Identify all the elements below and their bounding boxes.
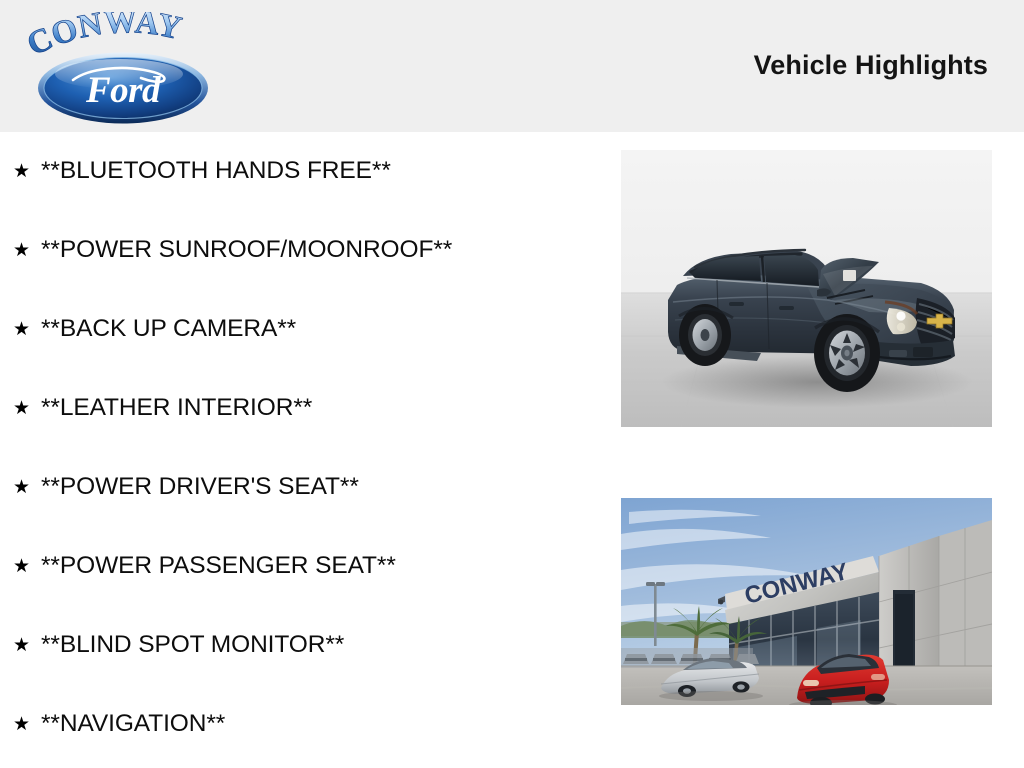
vehicle-photo[interactable] bbox=[621, 150, 992, 427]
list-item: ★ **POWER DRIVER'S SEAT** bbox=[0, 448, 610, 527]
highlight-label: **BLIND SPOT MONITOR** bbox=[41, 631, 344, 659]
vehicle-highlights-list: ★ **BLUETOOTH HANDS FREE** ★ **POWER SUN… bbox=[0, 132, 610, 764]
star-icon: ★ bbox=[13, 557, 41, 576]
highlight-label: **POWER DRIVER'S SEAT** bbox=[41, 473, 359, 501]
star-icon: ★ bbox=[13, 320, 41, 339]
list-item: ★ **BACK UP CAMERA** bbox=[0, 290, 610, 369]
list-item: ★ **BLIND SPOT MONITOR** bbox=[0, 606, 610, 685]
list-item: ★ **POWER SUNROOF/MOONROOF** bbox=[0, 211, 610, 290]
header: CONWAY CONWAY CONWAY bbox=[0, 0, 1024, 132]
list-item: ★ **POWER PASSENGER SEAT** bbox=[0, 527, 610, 606]
conway-ford-logo[interactable]: CONWAY CONWAY CONWAY bbox=[20, 10, 220, 122]
dealership-photo-image: CONWAY bbox=[621, 498, 992, 705]
highlight-label: **LEATHER INTERIOR** bbox=[41, 394, 312, 422]
star-icon: ★ bbox=[13, 478, 41, 497]
conway-wordmark-icon: CONWAY CONWAY CONWAY bbox=[20, 12, 220, 66]
highlight-label: **NAVIGATION** bbox=[41, 710, 225, 738]
svg-text:CONWAY: CONWAY bbox=[22, 12, 185, 63]
highlight-label: **POWER PASSENGER SEAT** bbox=[41, 552, 396, 580]
star-icon: ★ bbox=[13, 162, 41, 181]
list-item: ★ **LEATHER INTERIOR** bbox=[0, 369, 610, 448]
highlight-label: **BACK UP CAMERA** bbox=[41, 315, 296, 343]
highlight-label: **BLUETOOTH HANDS FREE** bbox=[41, 157, 391, 185]
highlight-label: **POWER SUNROOF/MOONROOF** bbox=[41, 236, 452, 264]
list-item: ★ **BLUETOOTH HANDS FREE** bbox=[0, 132, 610, 211]
vehicle-photo-image bbox=[621, 150, 992, 427]
star-icon: ★ bbox=[13, 399, 41, 418]
header-band: CONWAY CONWAY CONWAY bbox=[0, 0, 1024, 132]
dealership-photo[interactable]: CONWAY bbox=[621, 498, 992, 705]
star-icon: ★ bbox=[13, 241, 41, 260]
star-icon: ★ bbox=[13, 715, 41, 734]
page-title: Vehicle Highlights bbox=[754, 50, 988, 81]
list-item: ★ **NAVIGATION** bbox=[0, 685, 610, 764]
svg-text:Ford: Ford bbox=[85, 70, 161, 111]
star-icon: ★ bbox=[13, 636, 41, 655]
